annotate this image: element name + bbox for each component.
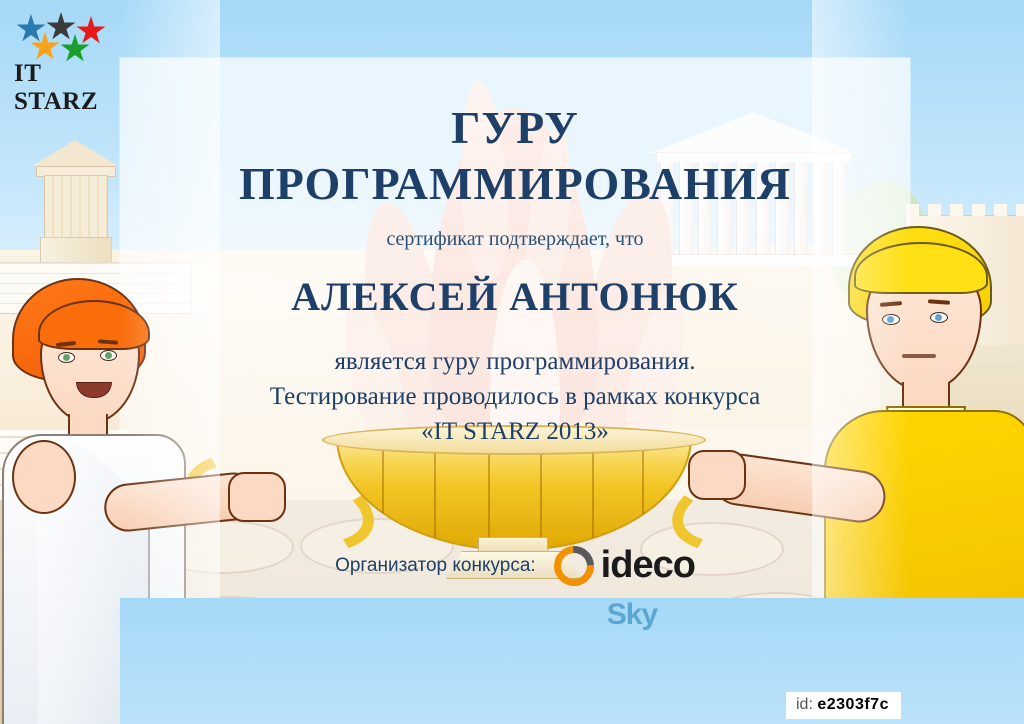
organizer-row: Организатор конкурса: ideco bbox=[120, 544, 910, 587]
character-eye bbox=[58, 352, 75, 363]
logo-wordmark: IT STARZ bbox=[14, 60, 124, 116]
certificate-id-badge: id: e2303f7c bbox=[786, 692, 901, 719]
star-icon bbox=[46, 12, 76, 42]
organizer-label: Организатор конкурса: bbox=[335, 555, 536, 577]
body-line-2: Тестирование проводилось в рамках конкур… bbox=[120, 379, 910, 414]
character-eye bbox=[100, 350, 117, 361]
title-line-2: ПРОГРАММИРОВАНИЯ bbox=[120, 156, 910, 212]
partners-row: Партнеры: LINUX Главное в мире Linux FOR… bbox=[120, 598, 910, 636]
body-line-3: «IT STARZ 2013» bbox=[120, 414, 910, 449]
body-line-1: является гуру программирования. bbox=[120, 344, 910, 379]
certificate-canvas: IT STARZ ГУРУ ПРОГРАММИРОВАНИЯ сертифика… bbox=[0, 0, 1024, 724]
certificate-title: ГУРУ ПРОГРАММИРОВАНИЯ bbox=[120, 100, 910, 212]
ideco-swirl-icon bbox=[554, 546, 594, 586]
ideco-wordmark: ideco bbox=[601, 544, 695, 587]
skydns-logo[interactable]: SkyDNS bbox=[736, 600, 796, 634]
certificate-body: является гуру программирования. Тестиров… bbox=[120, 344, 910, 449]
tower-columns bbox=[44, 175, 108, 239]
recipient-name: АЛЕКСЕЙ АНТОНЮК bbox=[120, 273, 910, 320]
logo-stars bbox=[14, 12, 118, 58]
certificate-content: ГУРУ ПРОГРАММИРОВАНИЯ сертификат подтвер… bbox=[120, 58, 910, 670]
character-eye bbox=[930, 312, 948, 323]
id-label: id: bbox=[796, 696, 813, 713]
tower-roof bbox=[32, 140, 118, 166]
id-value: e2303f7c bbox=[817, 696, 889, 713]
title-line-1: ГУРУ bbox=[451, 102, 579, 153]
certificate-subtitle: сертификат подтверждает, что bbox=[120, 228, 910, 251]
star-icon bbox=[76, 16, 106, 46]
ideco-logo[interactable]: ideco bbox=[554, 544, 695, 587]
it-starz-logo[interactable]: IT STARZ bbox=[14, 12, 124, 92]
character-shoulder bbox=[12, 440, 76, 514]
fortress-merlons bbox=[906, 204, 1024, 216]
star-icon bbox=[16, 14, 46, 44]
